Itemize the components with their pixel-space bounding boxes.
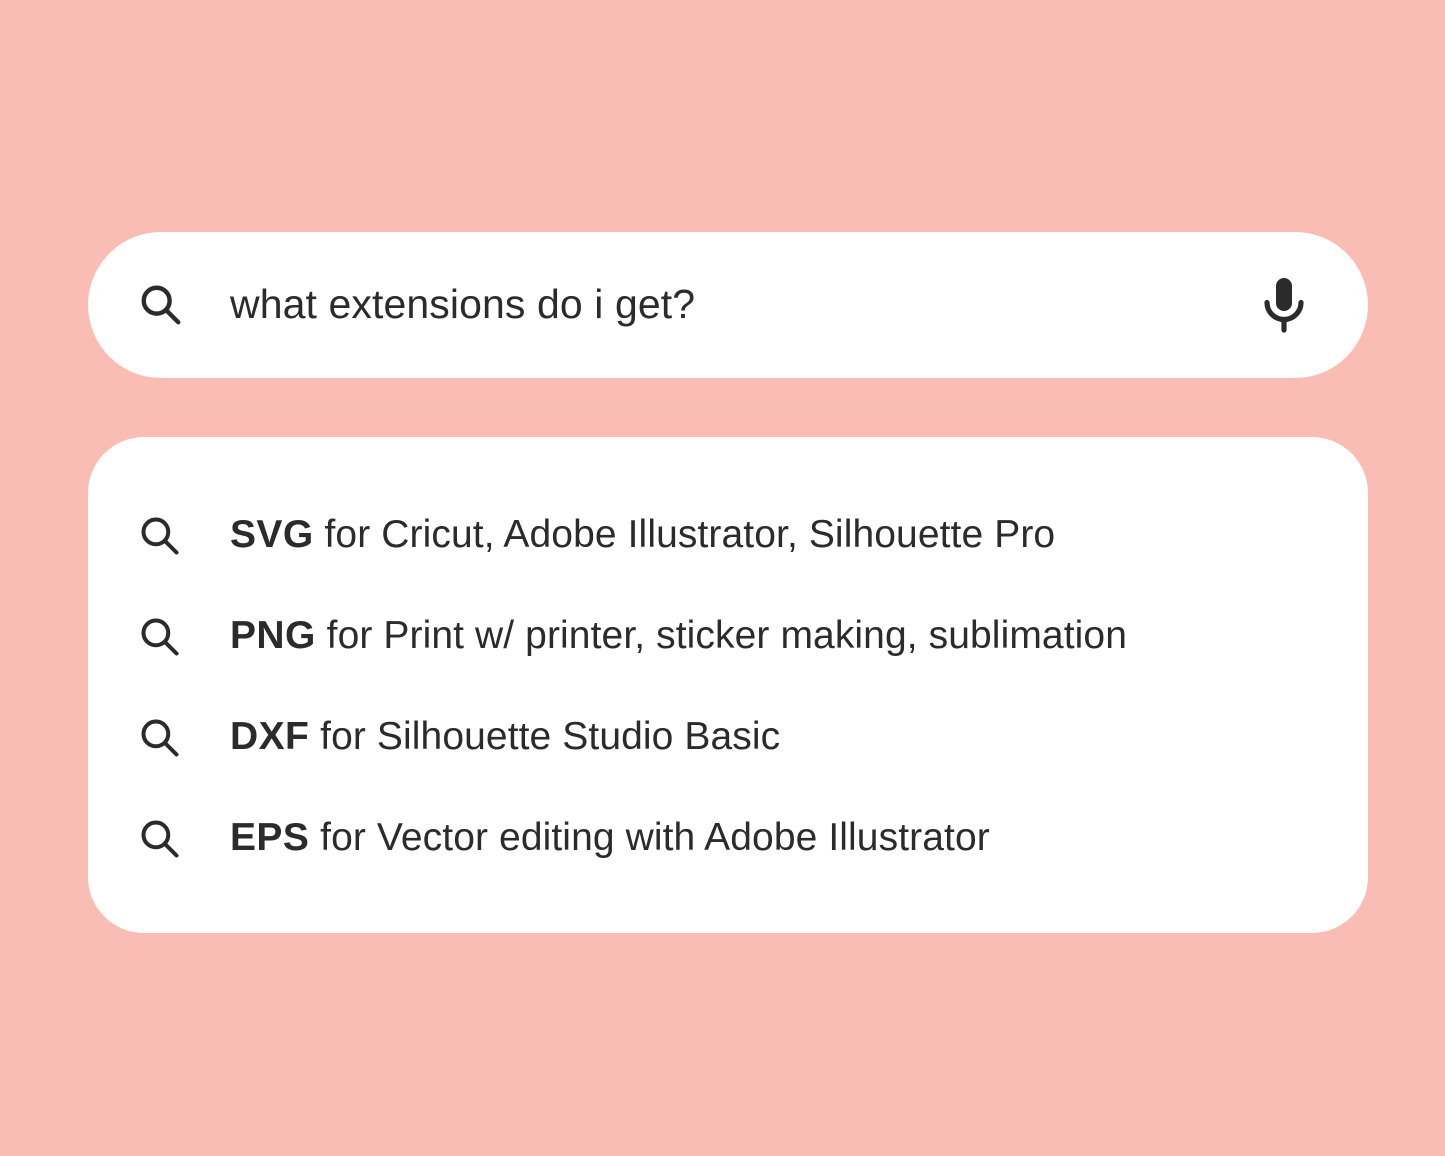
suggestion-item-png[interactable]: PNG for Print w/ printer, sticker making… [128, 586, 1328, 687]
search-icon [138, 615, 182, 659]
suggestion-label: SVG for Cricut, Adobe Illustrator, Silho… [230, 514, 1055, 557]
search-icon [138, 514, 182, 558]
page-background: what extensions do i get? SVG for Cricut… [0, 0, 1445, 1156]
search-icon [138, 282, 184, 328]
suggestion-item-eps[interactable]: EPS for Vector editing with Adobe Illust… [128, 788, 1328, 889]
suggestion-format: PNG [230, 614, 316, 657]
suggestion-format: EPS [230, 816, 309, 859]
suggestion-description: for Vector editing with Adobe Illustrato… [309, 816, 990, 859]
microphone-icon [1256, 275, 1312, 335]
search-icon [138, 817, 182, 861]
search-icon [138, 716, 182, 760]
suggestion-format: DXF [230, 715, 309, 758]
suggestions-card: SVG for Cricut, Adobe Illustrator, Silho… [88, 437, 1368, 933]
search-input[interactable]: what extensions do i get? [230, 281, 1234, 328]
suggestion-label: PNG for Print w/ printer, sticker making… [230, 615, 1127, 658]
search-bar[interactable]: what extensions do i get? [88, 232, 1368, 378]
suggestion-description: for Silhouette Studio Basic [309, 715, 780, 758]
suggestion-label: EPS for Vector editing with Adobe Illust… [230, 817, 990, 860]
voice-search-button[interactable] [1254, 274, 1314, 336]
suggestion-format: SVG [230, 513, 314, 556]
suggestion-item-svg[interactable]: SVG for Cricut, Adobe Illustrator, Silho… [128, 485, 1328, 586]
suggestion-description: for Print w/ printer, sticker making, su… [316, 614, 1127, 657]
suggestion-label: DXF for Silhouette Studio Basic [230, 716, 780, 759]
suggestion-description: for Cricut, Adobe Illustrator, Silhouett… [314, 513, 1056, 556]
suggestion-item-dxf[interactable]: DXF for Silhouette Studio Basic [128, 687, 1328, 788]
